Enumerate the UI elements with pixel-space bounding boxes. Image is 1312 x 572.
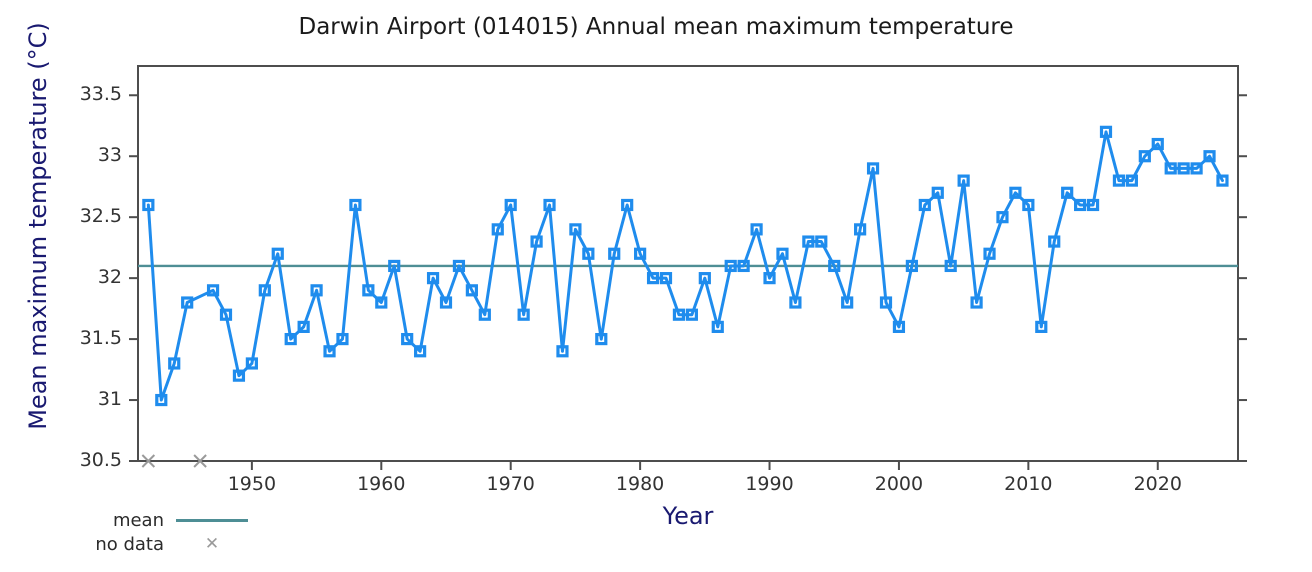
legend-label-no-data: no data [32, 534, 164, 555]
legend-item-no-data: no data ✕ [0, 532, 260, 556]
y-tick-label: 33.5 [6, 83, 122, 105]
legend-key-mean-line [164, 509, 260, 531]
chart-root: Darwin Airport (014015) Annual mean maxi… [0, 0, 1312, 572]
x-tick-label: 1970 [466, 473, 556, 495]
x-tick-label: 1960 [336, 473, 426, 495]
x-tick-label: 1950 [207, 473, 297, 495]
x-tick-label: 2020 [1113, 473, 1203, 495]
x-tick-label: 1990 [725, 473, 815, 495]
y-tick-label: 31.5 [6, 327, 122, 349]
y-tick-label: 33 [6, 144, 122, 166]
legend-label-mean: mean [32, 510, 164, 531]
y-tick-label: 32 [6, 266, 122, 288]
y-tick-label: 31 [6, 388, 122, 410]
x-tick-marks [252, 461, 1158, 470]
y-tick-label: 30.5 [6, 449, 122, 471]
x-tick-label: 2000 [854, 473, 944, 495]
x-tick-label: 2010 [983, 473, 1073, 495]
axis-frame [138, 66, 1238, 461]
legend-key-no-data-cross: ✕ [164, 533, 260, 555]
x-tick-label: 1980 [595, 473, 685, 495]
y-tick-label: 32.5 [6, 205, 122, 227]
chart-legend: mean no data ✕ [0, 508, 260, 556]
legend-item-mean: mean [0, 508, 260, 532]
cross-icon: ✕ [205, 536, 219, 553]
mean-line-swatch [176, 519, 248, 522]
y-tick-marks [129, 95, 1247, 461]
